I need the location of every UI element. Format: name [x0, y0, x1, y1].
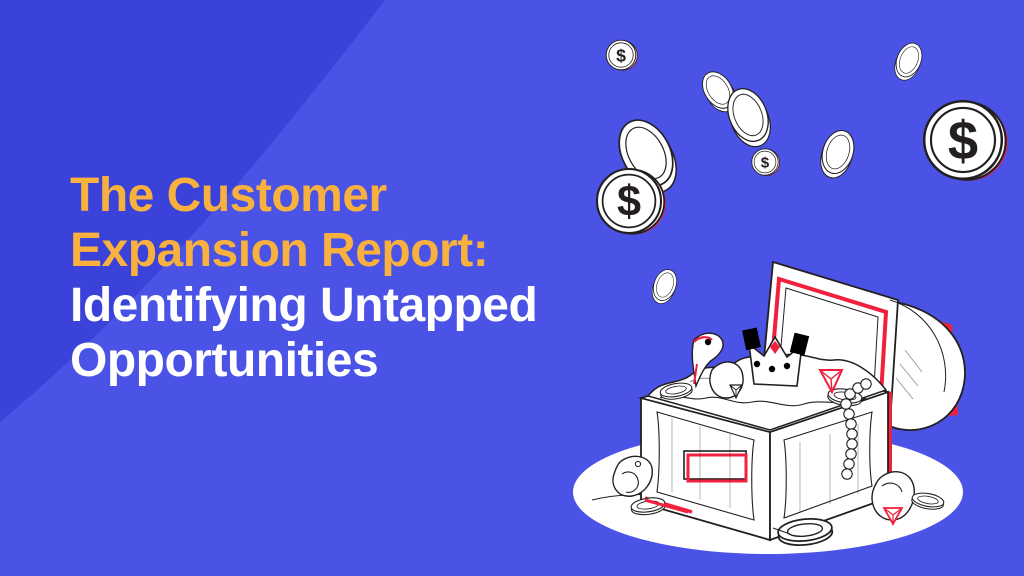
dollar-coin-icon: $ — [924, 101, 1007, 181]
svg-text:$: $ — [761, 154, 770, 171]
title-line-4: Opportunities — [70, 333, 690, 388]
dollar-coin-icon: $ — [606, 40, 638, 70]
dollar-coin-icon: $ — [752, 149, 780, 176]
title-line-1: The Customer — [70, 168, 690, 223]
blank-coin-icon — [890, 39, 927, 84]
svg-text:$: $ — [616, 45, 626, 65]
hero-banner: $ $ $ $ — [0, 0, 1024, 576]
page-title: The Customer Expansion Report: Identifyi… — [70, 168, 690, 388]
blank-coin-icon — [815, 126, 859, 182]
svg-text:$: $ — [948, 110, 978, 171]
title-line-3: Identifying Untapped — [70, 278, 690, 333]
title-line-2: Expansion Report: — [70, 223, 690, 278]
